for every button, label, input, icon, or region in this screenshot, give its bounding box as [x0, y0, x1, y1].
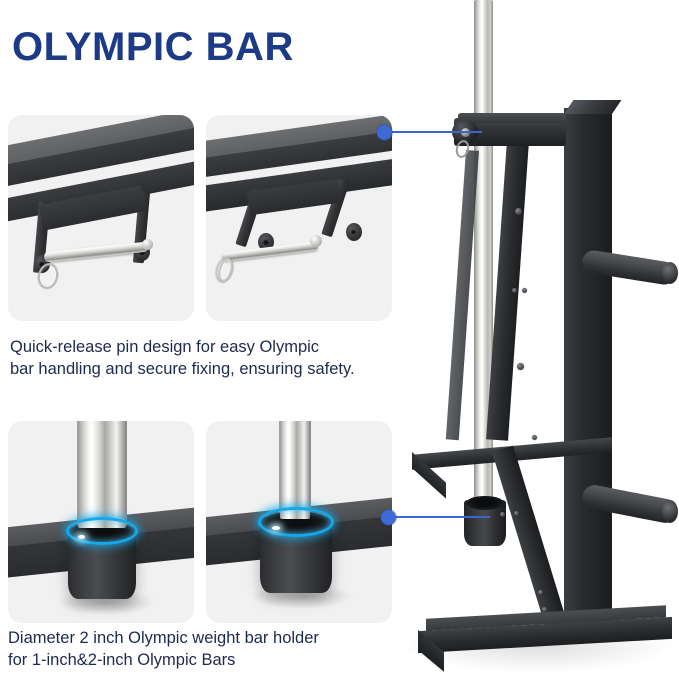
feature-panel-1inch-bar[interactable] — [206, 421, 392, 623]
pin-withdrawn-icon — [206, 115, 392, 321]
feature-panel-pin-withdrawn[interactable] — [206, 115, 392, 321]
pin-inserted-icon — [8, 115, 194, 321]
caption-quick-release: Quick-release pin design for easy Olympi… — [10, 336, 410, 380]
feature-panel-2inch-bar[interactable] — [8, 421, 194, 623]
bar-holder-2inch-icon — [8, 421, 194, 623]
infographic-root: OLYMPIC BAR — [0, 0, 679, 679]
callout-line-bottom — [394, 516, 490, 518]
page-title: OLYMPIC BAR — [12, 25, 294, 70]
feature-panel-pin-inserted[interactable] — [8, 115, 194, 321]
callout-line-top — [390, 131, 482, 133]
callout-dot-bottom[interactable] — [381, 510, 396, 525]
product-illustration — [404, 0, 679, 679]
callout-dot-top[interactable] — [377, 125, 392, 140]
bar-holder-1inch-icon — [206, 421, 392, 623]
olympic-barbell — [474, 0, 493, 524]
caption-bar-holder: Diameter 2 inch Olympic weight bar holde… — [8, 627, 418, 671]
